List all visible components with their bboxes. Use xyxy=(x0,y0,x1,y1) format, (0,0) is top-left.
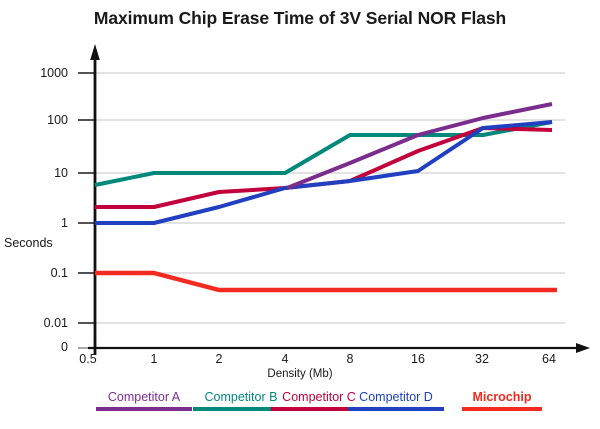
legend-swatch-competitor-a xyxy=(96,407,192,411)
ytick-label-100: 100 xyxy=(8,113,68,127)
xtick-label-1: 1 xyxy=(134,352,174,366)
ytick-label-0.1: 0.1 xyxy=(8,266,68,280)
xtick-label-0.5: 0.5 xyxy=(68,352,108,366)
series-competitor-c xyxy=(95,128,552,207)
xtick-label-64: 64 xyxy=(529,352,569,366)
legend-item-microchip[interactable]: Microchip xyxy=(462,390,542,411)
gridlines xyxy=(95,73,565,323)
ytick-label-0: 0 xyxy=(8,340,68,354)
chart-legend: Competitor A Competitor B Competitor C C… xyxy=(0,390,600,420)
y-tick-marks xyxy=(78,73,95,348)
xtick-label-32: 32 xyxy=(462,352,502,366)
series-competitor-a xyxy=(287,104,552,188)
ytick-label-0.01: 0.01 xyxy=(8,316,68,330)
chart-container: Maximum Chip Erase Time of 3V Serial NOR… xyxy=(0,0,600,429)
legend-label-competitor-a: Competitor A xyxy=(96,390,192,404)
legend-item-competitor-d[interactable]: Competitor D xyxy=(348,390,444,411)
legend-label-competitor-d: Competitor D xyxy=(348,390,444,404)
y-axis-title: Seconds xyxy=(4,236,53,250)
xtick-label-2: 2 xyxy=(199,352,239,366)
legend-swatch-competitor-d xyxy=(348,407,444,411)
x-axis xyxy=(88,336,590,353)
x-axis-title: Density (Mb) xyxy=(0,368,600,380)
ytick-label-1: 1 xyxy=(8,216,68,230)
legend-swatch-microchip xyxy=(462,407,542,411)
ytick-label-1000: 1000 xyxy=(8,66,68,80)
legend-label-microchip: Microchip xyxy=(462,390,542,404)
legend-item-competitor-a[interactable]: Competitor A xyxy=(96,390,192,411)
ytick-label-10: 10 xyxy=(8,166,68,180)
xtick-label-4: 4 xyxy=(265,352,305,366)
xtick-label-16: 16 xyxy=(398,352,438,366)
xtick-label-8: 8 xyxy=(330,352,370,366)
series-microchip xyxy=(95,273,557,290)
y-axis xyxy=(90,44,100,355)
